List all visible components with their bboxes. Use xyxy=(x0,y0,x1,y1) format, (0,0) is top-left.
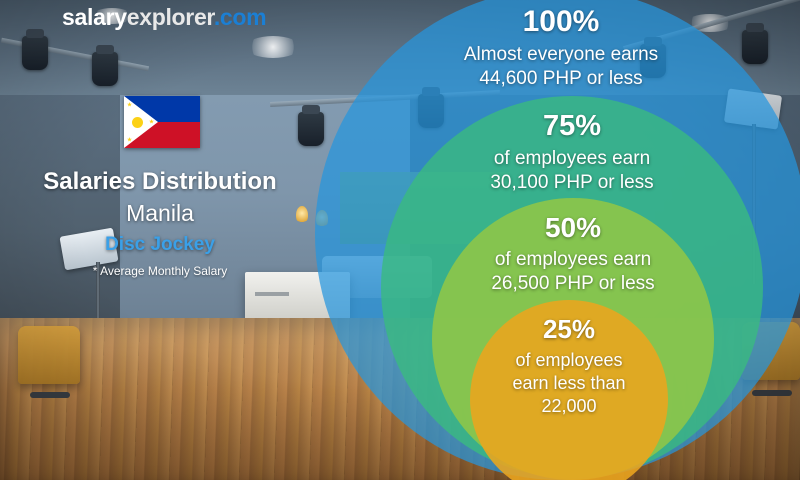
page-title: Salaries Distribution xyxy=(0,168,320,196)
percentile-desc-75-line1: of employees earn xyxy=(490,147,653,171)
percentile-desc-100-line2: 44,600 PHP or less xyxy=(464,67,658,91)
salary-note: * Average Monthly Salary xyxy=(0,260,320,283)
percentile-label-100: 100% xyxy=(523,5,600,39)
percentile-label-25: 25% xyxy=(543,314,595,345)
logo-part-salary: salary xyxy=(62,4,127,30)
flag-sun-icon xyxy=(132,117,143,128)
percentile-desc-25: of employees earn less than 22,000 xyxy=(512,349,625,418)
percentile-desc-50-line2: 26,500 PHP or less xyxy=(491,272,654,296)
job-title-label: Disc Jockey xyxy=(0,230,320,260)
percentile-desc-75-line2: 30,100 PHP or less xyxy=(490,171,653,195)
percentile-desc-75: of employees earn 30,100 PHP or less xyxy=(490,147,653,195)
logo-part-explorer: explorer xyxy=(127,4,214,30)
logo-part-domain: .com xyxy=(214,4,266,30)
percentile-desc-100: Almost everyone earns 44,600 PHP or less xyxy=(464,43,658,91)
philippines-flag-icon xyxy=(124,96,200,148)
percentile-desc-25-line3: 22,000 xyxy=(512,395,625,418)
percentile-desc-50: of employees earn 26,500 PHP or less xyxy=(491,248,654,296)
city-label: Manila xyxy=(0,196,320,231)
title-block: Salaries Distribution Manila Disc Jockey… xyxy=(0,168,320,283)
percentile-label-50: 50% xyxy=(545,212,601,244)
percentile-desc-25-line2: earn less than xyxy=(512,372,625,395)
percentile-desc-100-line1: Almost everyone earns xyxy=(464,43,658,67)
percentile-desc-25-line1: of employees xyxy=(512,349,625,372)
infographic-canvas: salaryexplorer.com Salaries Distribution… xyxy=(0,0,800,480)
percentile-desc-50-line1: of employees earn xyxy=(491,248,654,272)
site-logo[interactable]: salaryexplorer.com xyxy=(62,4,266,31)
percentile-label-75: 75% xyxy=(543,110,601,143)
